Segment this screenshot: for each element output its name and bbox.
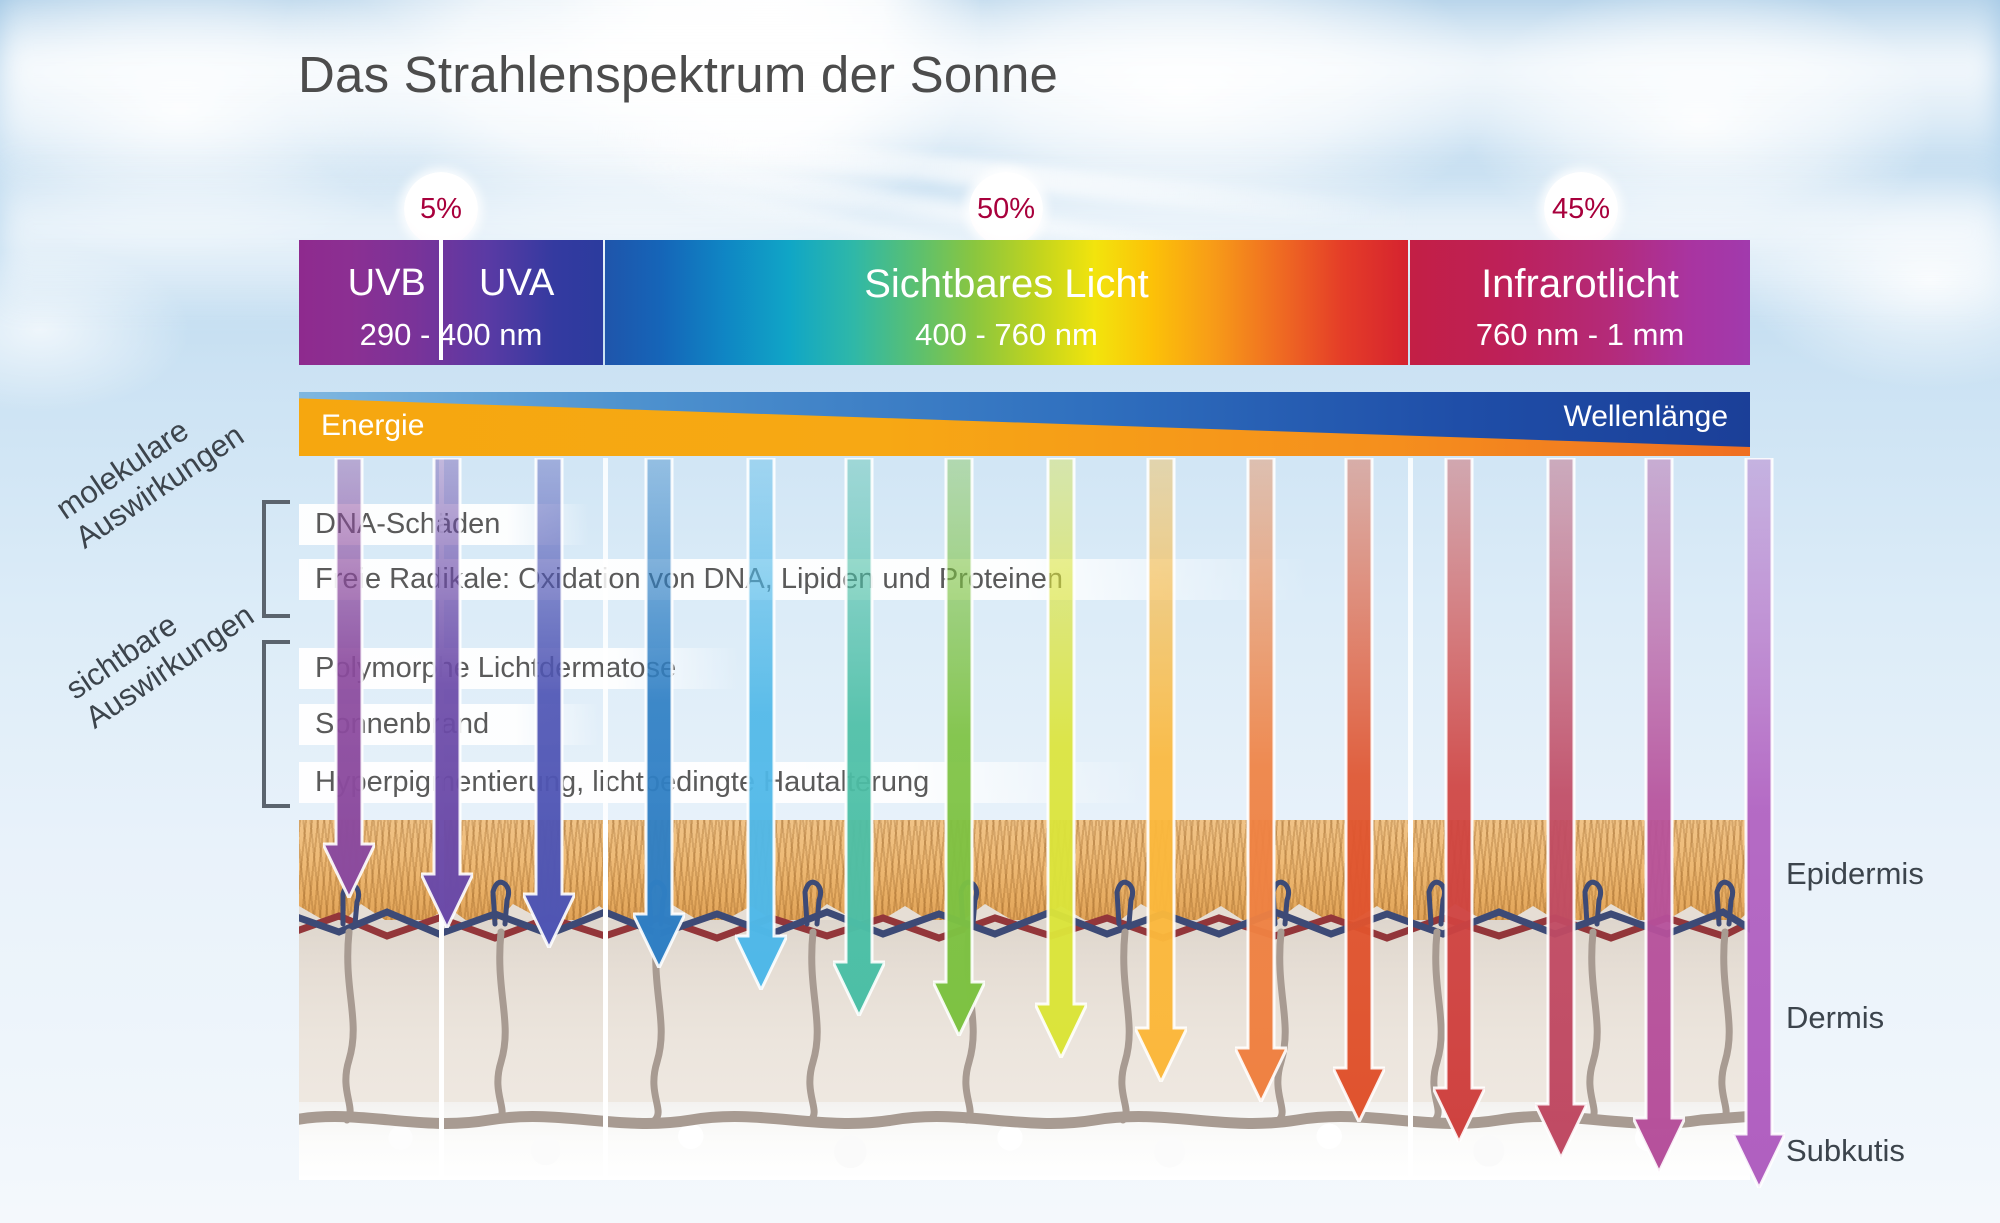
percent-badge-uv-value: 5% (420, 193, 462, 226)
radiation-arrow-uv-1 (323, 458, 375, 898)
spectrum-segment-visible-range: 400 - 760 nm (605, 317, 1408, 353)
radiation-arrow-visible-10 (1235, 458, 1287, 1102)
spectrum-segment-uv[interactable]: UVB UVA 290 - 400 nm (299, 240, 603, 365)
spectrum-segment-infrared-name: Infrarotlicht (1410, 262, 1750, 307)
radiation-arrow-visible-7 (933, 458, 985, 1036)
spectrum-segment-uv-range: 290 - 400 nm (299, 317, 603, 353)
wavelength-label: Wellenlänge (1563, 400, 1728, 434)
skin-label-epidermis: Epidermis (1786, 856, 1924, 892)
radiation-arrow-visible-6 (833, 458, 885, 1016)
page-title: Das Strahlenspektrum der Sonne (298, 45, 1058, 104)
radiation-arrow-visible-4 (633, 458, 685, 968)
bracket-visible (262, 640, 290, 808)
spectrum-segment-infrared[interactable]: Infrarotlicht 760 nm - 1 mm (1410, 240, 1750, 365)
infographic-root: Das Strahlenspektrum der Sonne 5% 50% 45… (0, 0, 2000, 1223)
percent-badge-uv: 5% (404, 172, 478, 246)
skin-label-dermis: Dermis (1786, 1000, 1884, 1036)
percent-badge-visible-value: 50% (977, 193, 1035, 226)
radiation-arrow-uv-2 (421, 458, 473, 928)
spectrum-segment-infrared-range: 760 nm - 1 mm (1410, 317, 1750, 353)
radiation-arrow-visible-11 (1333, 458, 1385, 1122)
radiation-arrow-visible-5 (735, 458, 787, 990)
energy-label: Energie (321, 409, 424, 443)
spectrum-bar: UVB UVA 290 - 400 nm Sichtbares Licht 40… (299, 240, 1750, 365)
radiation-arrow-layer (299, 458, 1750, 1188)
energy-wavelength-bar: Energie Wellenlänge (299, 392, 1750, 456)
radiation-arrow-visible-9 (1135, 458, 1187, 1082)
radiation-arrow-visible-12 (1433, 458, 1485, 1142)
percent-badge-visible: 50% (969, 172, 1043, 246)
radiation-arrow-infrared-13 (1535, 458, 1587, 1158)
radiation-arrow-visible-8 (1035, 458, 1087, 1058)
radiation-arrow-uv-3 (523, 458, 575, 948)
skin-label-subkutis: Subkutis (1786, 1133, 1905, 1169)
spectrum-segment-visible-name: Sichtbares Licht (605, 262, 1408, 307)
bracket-molecular (262, 500, 290, 618)
label-uvb: UVB (348, 262, 426, 305)
radiation-arrow-infrared-15 (1733, 458, 1785, 1188)
label-uva: UVA (479, 262, 554, 305)
spectrum-segment-uv-labels: UVB UVA (299, 262, 603, 305)
radiation-arrow-infrared-14 (1633, 458, 1685, 1172)
spectrum-segment-visible[interactable]: Sichtbares Licht 400 - 760 nm (605, 240, 1408, 365)
percent-badge-infrared: 45% (1544, 172, 1618, 246)
percent-badge-infrared-value: 45% (1552, 193, 1610, 226)
